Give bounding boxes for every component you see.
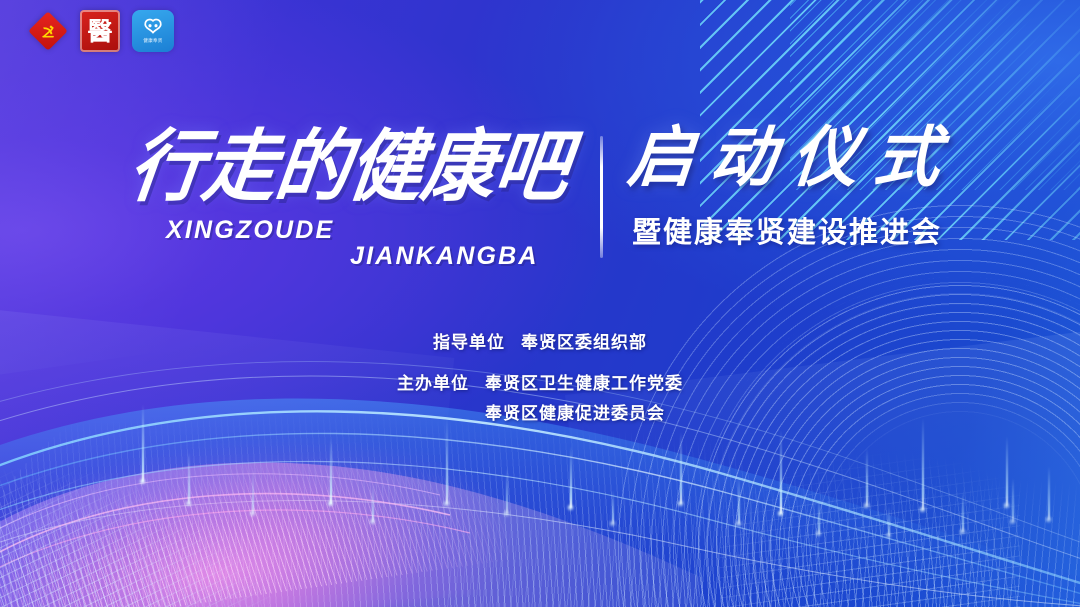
light-streak [680, 432, 682, 504]
light-streak [1012, 478, 1014, 522]
light-streak [612, 490, 614, 524]
hammer-sickle-icon [40, 23, 57, 40]
medical-seal-logo: 醫 [80, 10, 120, 52]
light-streak [372, 484, 374, 522]
light-streak [446, 418, 448, 504]
credit-value: 奉贤区委组织部 [521, 328, 647, 353]
cpc-emblem-logo [28, 11, 68, 51]
brand-title-group: 行走的健康吧 XINGZOUDE JIANKANGBA [0, 118, 585, 278]
credit-value: 奉贤区卫生健康工作党委 [485, 369, 683, 394]
light-streak [570, 446, 572, 508]
credit-row-guidance: 指导单位 奉贤区委组织部 [433, 328, 647, 353]
healthy-fengxian-logo: 健康奉贤 [132, 10, 174, 52]
credit-row-host: 主办单位 奉贤区卫生健康工作党委 奉贤区健康促进委员会 [397, 369, 683, 424]
wave-ribbons-decoration [0, 277, 1080, 607]
light-streak [866, 448, 868, 506]
poster-title-block: 行走的健康吧 XINGZOUDE JIANKANGBA 启动仪式 暨健康奉贤建设… [0, 118, 1080, 278]
event-kicker-cn: 启动仪式 [625, 124, 959, 190]
crosshatch-grid-left-decoration [0, 457, 270, 607]
concentric-arcs-decoration [690, 277, 1080, 607]
credit-label: 指导单位 [433, 328, 505, 353]
light-streak [922, 418, 924, 510]
light-streak [962, 492, 964, 532]
credit-values: 奉贤区委组织部 [521, 328, 647, 353]
event-poster: 醫 健康奉贤 行走的健康吧 XINGZOUDE JIANKANGBA 启动仪式 … [0, 0, 1080, 607]
brand-pinyin-right: JIANKANGBA [350, 242, 539, 271]
light-streak [888, 506, 890, 536]
crosshatch-grid-right-decoration [720, 417, 1020, 607]
credits-block: 指导单位 奉贤区委组织部 主办单位 奉贤区卫生健康工作党委 奉贤区健康促进委员会 [0, 328, 1080, 424]
health-heart-hands-icon [140, 18, 166, 38]
light-streak [818, 498, 820, 534]
organization-logos: 醫 健康奉贤 [28, 10, 174, 52]
light-streak [738, 476, 740, 524]
medical-seal-character: 醫 [87, 19, 112, 44]
brand-pinyin-left: XINGZOUDE [166, 216, 334, 245]
event-title-group: 启动仪式 暨健康奉贤建设推进会 [624, 118, 1044, 278]
light-streak [1048, 466, 1050, 520]
healthy-fengxian-caption: 健康奉贤 [143, 39, 162, 44]
light-streak [506, 468, 508, 514]
light-streak [252, 470, 254, 514]
light-streak [330, 438, 332, 504]
event-subtitle-cn: 暨健康奉贤建设推进会 [632, 218, 942, 247]
credit-values: 奉贤区卫生健康工作党委 奉贤区健康促进委员会 [485, 369, 683, 424]
title-divider [600, 136, 603, 258]
credit-value: 奉贤区健康促进委员会 [485, 399, 683, 424]
brand-title-cn: 行走的健康吧 [125, 128, 573, 206]
credit-label: 主办单位 [397, 369, 469, 394]
light-streak [780, 430, 782, 514]
light-streak [1006, 436, 1008, 506]
light-streak [188, 452, 190, 504]
